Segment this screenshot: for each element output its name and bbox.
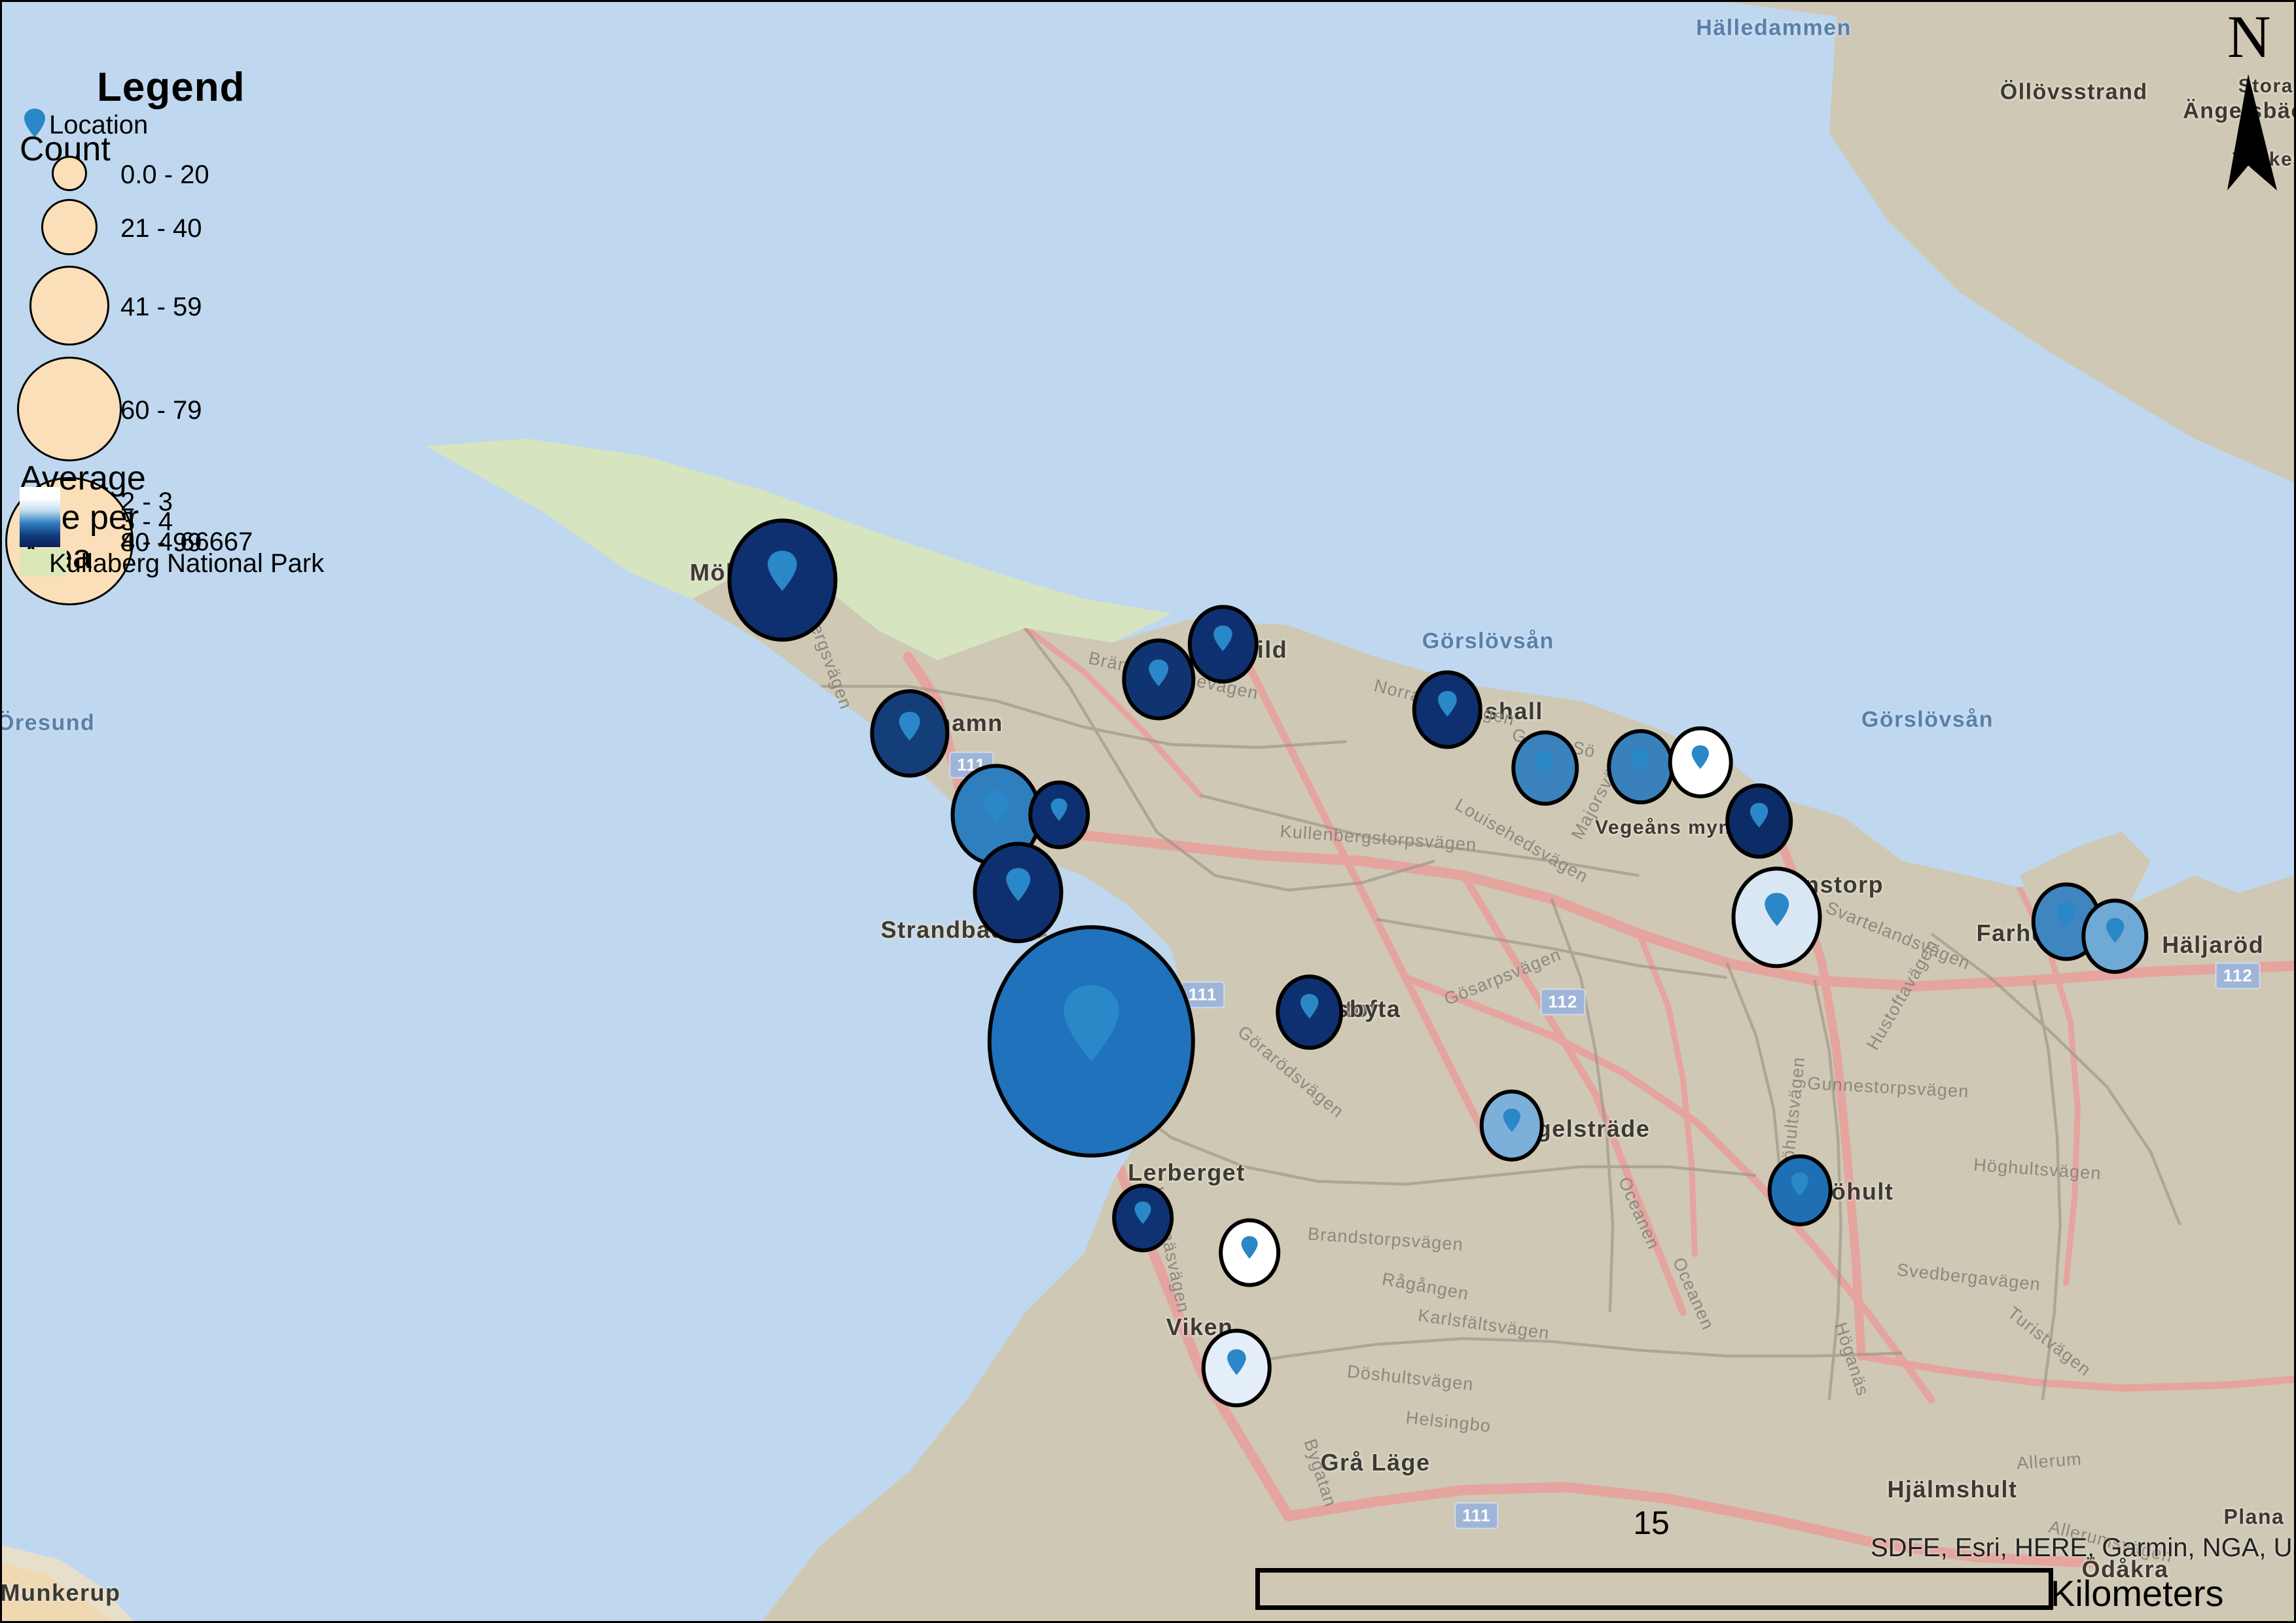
scale-bar-value: 15	[1633, 1504, 1670, 1542]
graduated-symbol[interactable]	[973, 847, 1063, 937]
scale-bar-box	[1255, 1568, 2053, 1610]
legend-count-swatch	[17, 357, 122, 461]
map-pin-icon	[1630, 748, 1651, 774]
legend-count-swatch	[41, 199, 98, 255]
land-basemap	[2, 2, 2294, 1621]
graduated-symbol[interactable]	[1122, 643, 1196, 716]
graduated-symbol[interactable]	[1479, 1094, 1543, 1158]
graduated-symbol[interactable]	[1768, 1158, 1832, 1222]
graduated-symbol[interactable]	[1276, 978, 1343, 1046]
map-pin-icon	[1791, 1172, 1810, 1197]
map-pin-icon	[2056, 902, 2077, 929]
map-pin-icon	[1148, 658, 1170, 687]
graduated-symbol[interactable]	[1201, 1333, 1271, 1403]
graduated-symbol[interactable]	[1112, 1187, 1174, 1249]
graduated-symbol[interactable]	[1731, 872, 1821, 962]
scale-bar-unit: Kilometers	[2051, 1572, 2224, 1614]
map-pin-icon	[1050, 798, 1068, 822]
age-color-ramp	[20, 487, 60, 547]
north-arrow-label: N	[2227, 2, 2270, 71]
map-pin-icon	[1134, 1200, 1152, 1224]
map-pin-icon	[1226, 1348, 1247, 1376]
graduated-symbol[interactable]	[988, 937, 1195, 1145]
map-pin-icon	[982, 789, 1010, 825]
map-pin-icon	[1060, 983, 1122, 1064]
graduated-symbol[interactable]	[1512, 734, 1579, 802]
graduated-symbol[interactable]	[1607, 733, 1674, 800]
map-pin-icon	[1691, 744, 1710, 769]
map-pin-icon	[1502, 1108, 1521, 1133]
map-pin-icon	[1749, 802, 1769, 828]
map-pin-icon	[1437, 690, 1458, 718]
graduated-symbol[interactable]	[1725, 787, 1793, 855]
legend-count-label: 0.0 - 20	[120, 160, 209, 190]
graduated-symbol[interactable]	[1668, 730, 1732, 794]
graduated-symbol[interactable]	[1028, 784, 1090, 846]
legend-count-label: 60 - 79	[120, 396, 202, 425]
map-pin-icon	[1299, 993, 1319, 1019]
graduated-symbol[interactable]	[1219, 1222, 1280, 1283]
scale-bar: 15 Kilometers	[1255, 1510, 2172, 1609]
legend-count-label: 21 - 40	[120, 214, 202, 243]
map-pin-icon	[1213, 624, 1234, 652]
north-arrow: N	[2214, 15, 2293, 133]
map-pin-icon	[1535, 749, 1556, 776]
map-pin-icon	[898, 711, 922, 741]
north-arrow-icon	[2214, 74, 2286, 192]
graduated-symbol[interactable]	[2081, 902, 2149, 970]
map-pin-icon	[2105, 917, 2125, 943]
legend-count-swatch	[52, 156, 87, 191]
legend-park-label: Kullaberg National Park	[49, 549, 324, 579]
legend-count-swatch	[29, 266, 109, 346]
graduated-symbol[interactable]	[870, 694, 950, 773]
graduated-symbol[interactable]	[728, 525, 838, 635]
graduated-symbol[interactable]	[1412, 675, 1482, 745]
map-pin-icon	[1005, 867, 1032, 902]
road-shield: 112	[2215, 962, 2261, 989]
map-pin-icon	[766, 549, 798, 592]
graduated-symbol[interactable]	[1188, 609, 1258, 679]
legend-title: Legend	[97, 64, 245, 111]
legend-count-label: 41 - 59	[120, 293, 202, 322]
map-canvas: HälledammenÖllövsstrandÄngelsbäcksTockes…	[0, 0, 2296, 1623]
map-pin-icon	[1240, 1236, 1259, 1260]
road-shield: 112	[1540, 988, 1585, 1015]
map-pin-icon	[1763, 891, 1791, 927]
